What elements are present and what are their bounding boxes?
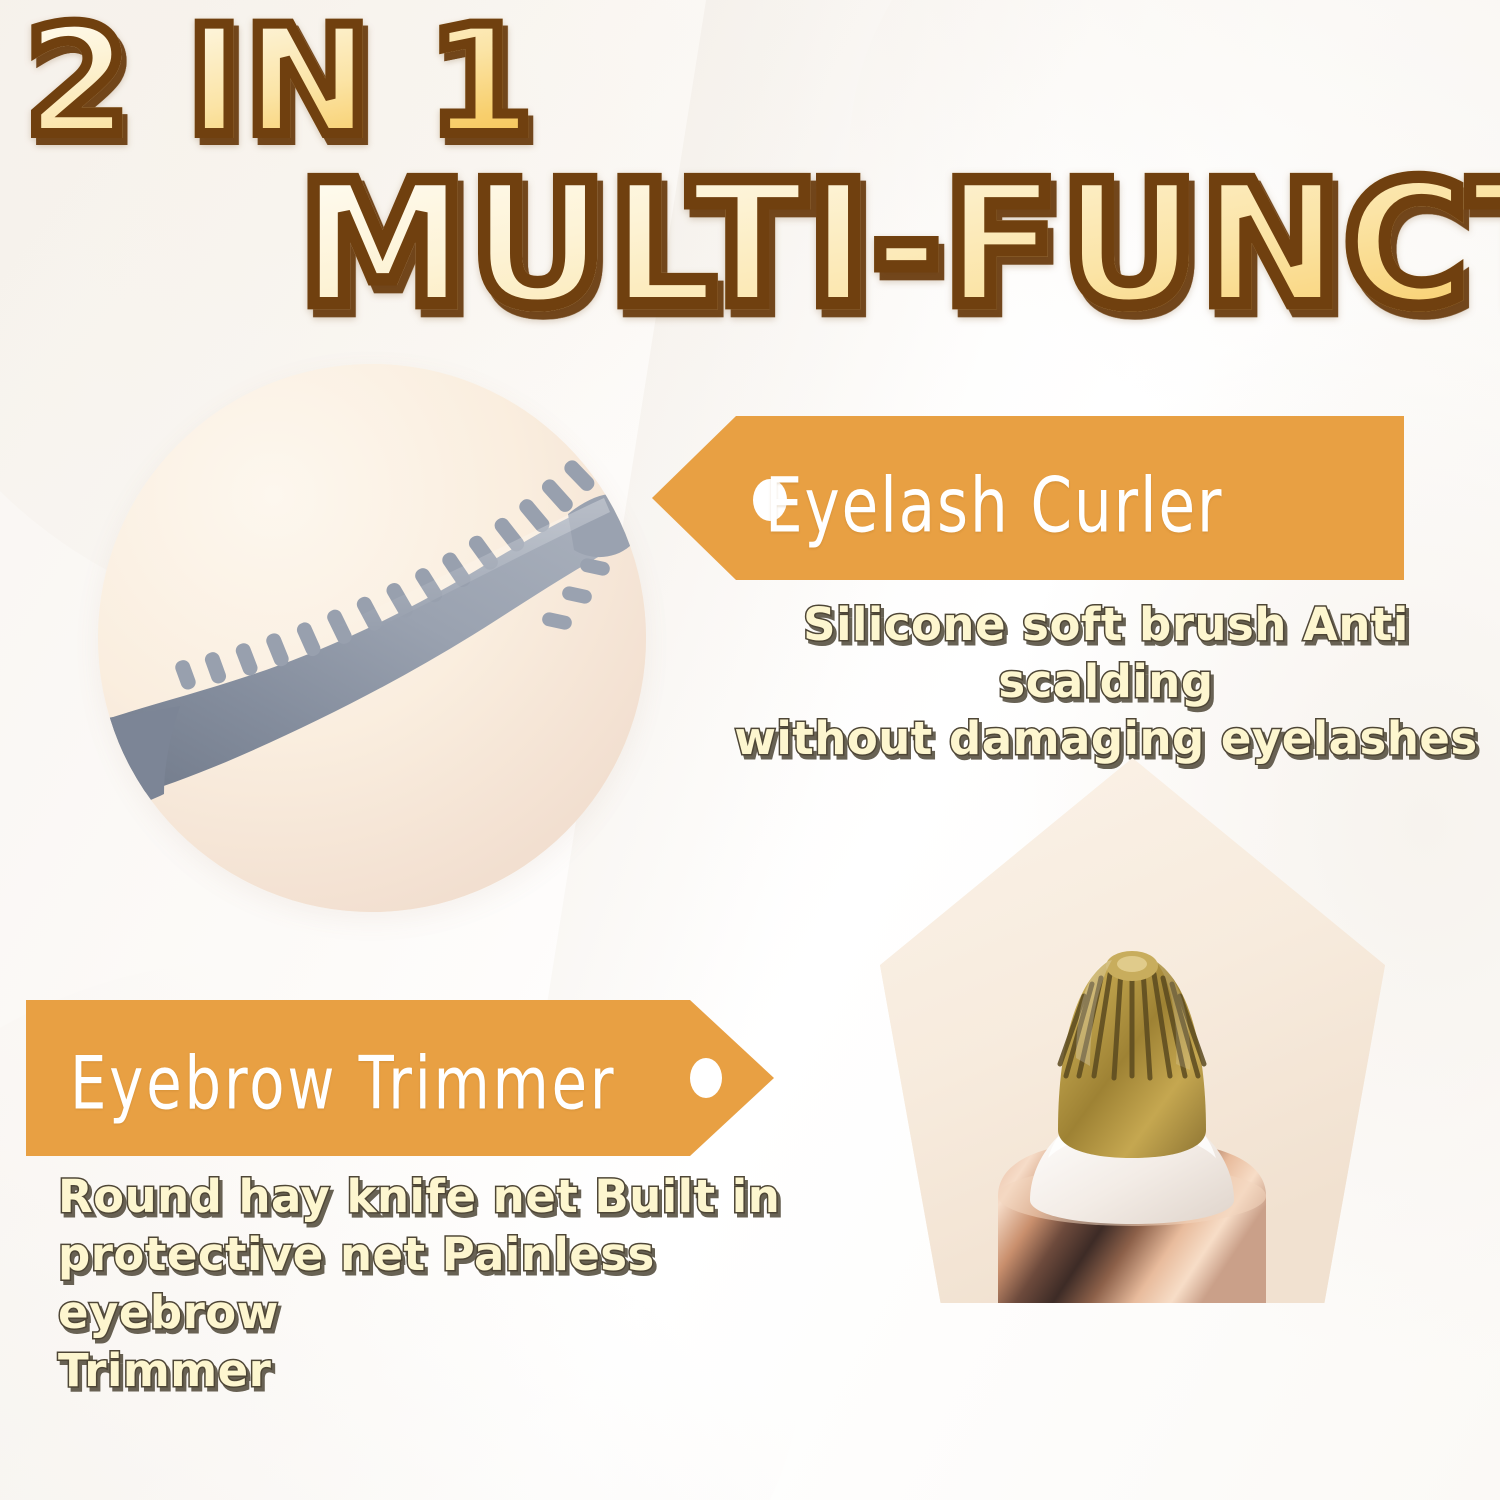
headline-line-2: MULTI-FUNCTION: [298, 152, 1500, 338]
trimmer-head-illustration: [880, 758, 1385, 1303]
description-line: Round hay knife net Built in: [58, 1168, 848, 1226]
bullet-dot-icon: [690, 1058, 722, 1098]
description-line: protective net Painless eyebrow: [58, 1226, 848, 1342]
silicone-comb-icon: [98, 364, 646, 912]
description-line: Trimmer: [58, 1342, 848, 1400]
headline-line-1: 2 IN 1: [24, 2, 535, 162]
product-infographic: 2 IN 1 MULTI-FUNCTION: [0, 0, 1500, 1500]
eyebrow-trimmer-banner[interactable]: Eyebrow Trimmer: [24, 998, 776, 1158]
eyelash-curler-banner-label: Eyelash Curler: [765, 450, 1223, 562]
eyelash-curler-photo: [98, 364, 646, 912]
eyelash-curler-description: Silicone soft brush Anti scalding withou…: [716, 596, 1496, 767]
description-line: Silicone soft brush Anti scalding: [716, 596, 1496, 710]
eyelash-curler-banner[interactable]: Eyelash Curler: [650, 414, 1406, 582]
silicone-comb-illustration: [98, 364, 646, 912]
eyebrow-trimmer-photo: [880, 758, 1385, 1303]
description-line: without damaging eyelashes: [716, 710, 1496, 767]
eyebrow-trimmer-banner-label: Eyebrow Trimmer: [70, 1028, 617, 1140]
eyebrow-trimmer-description: Round hay knife net Built in protective …: [58, 1168, 848, 1400]
